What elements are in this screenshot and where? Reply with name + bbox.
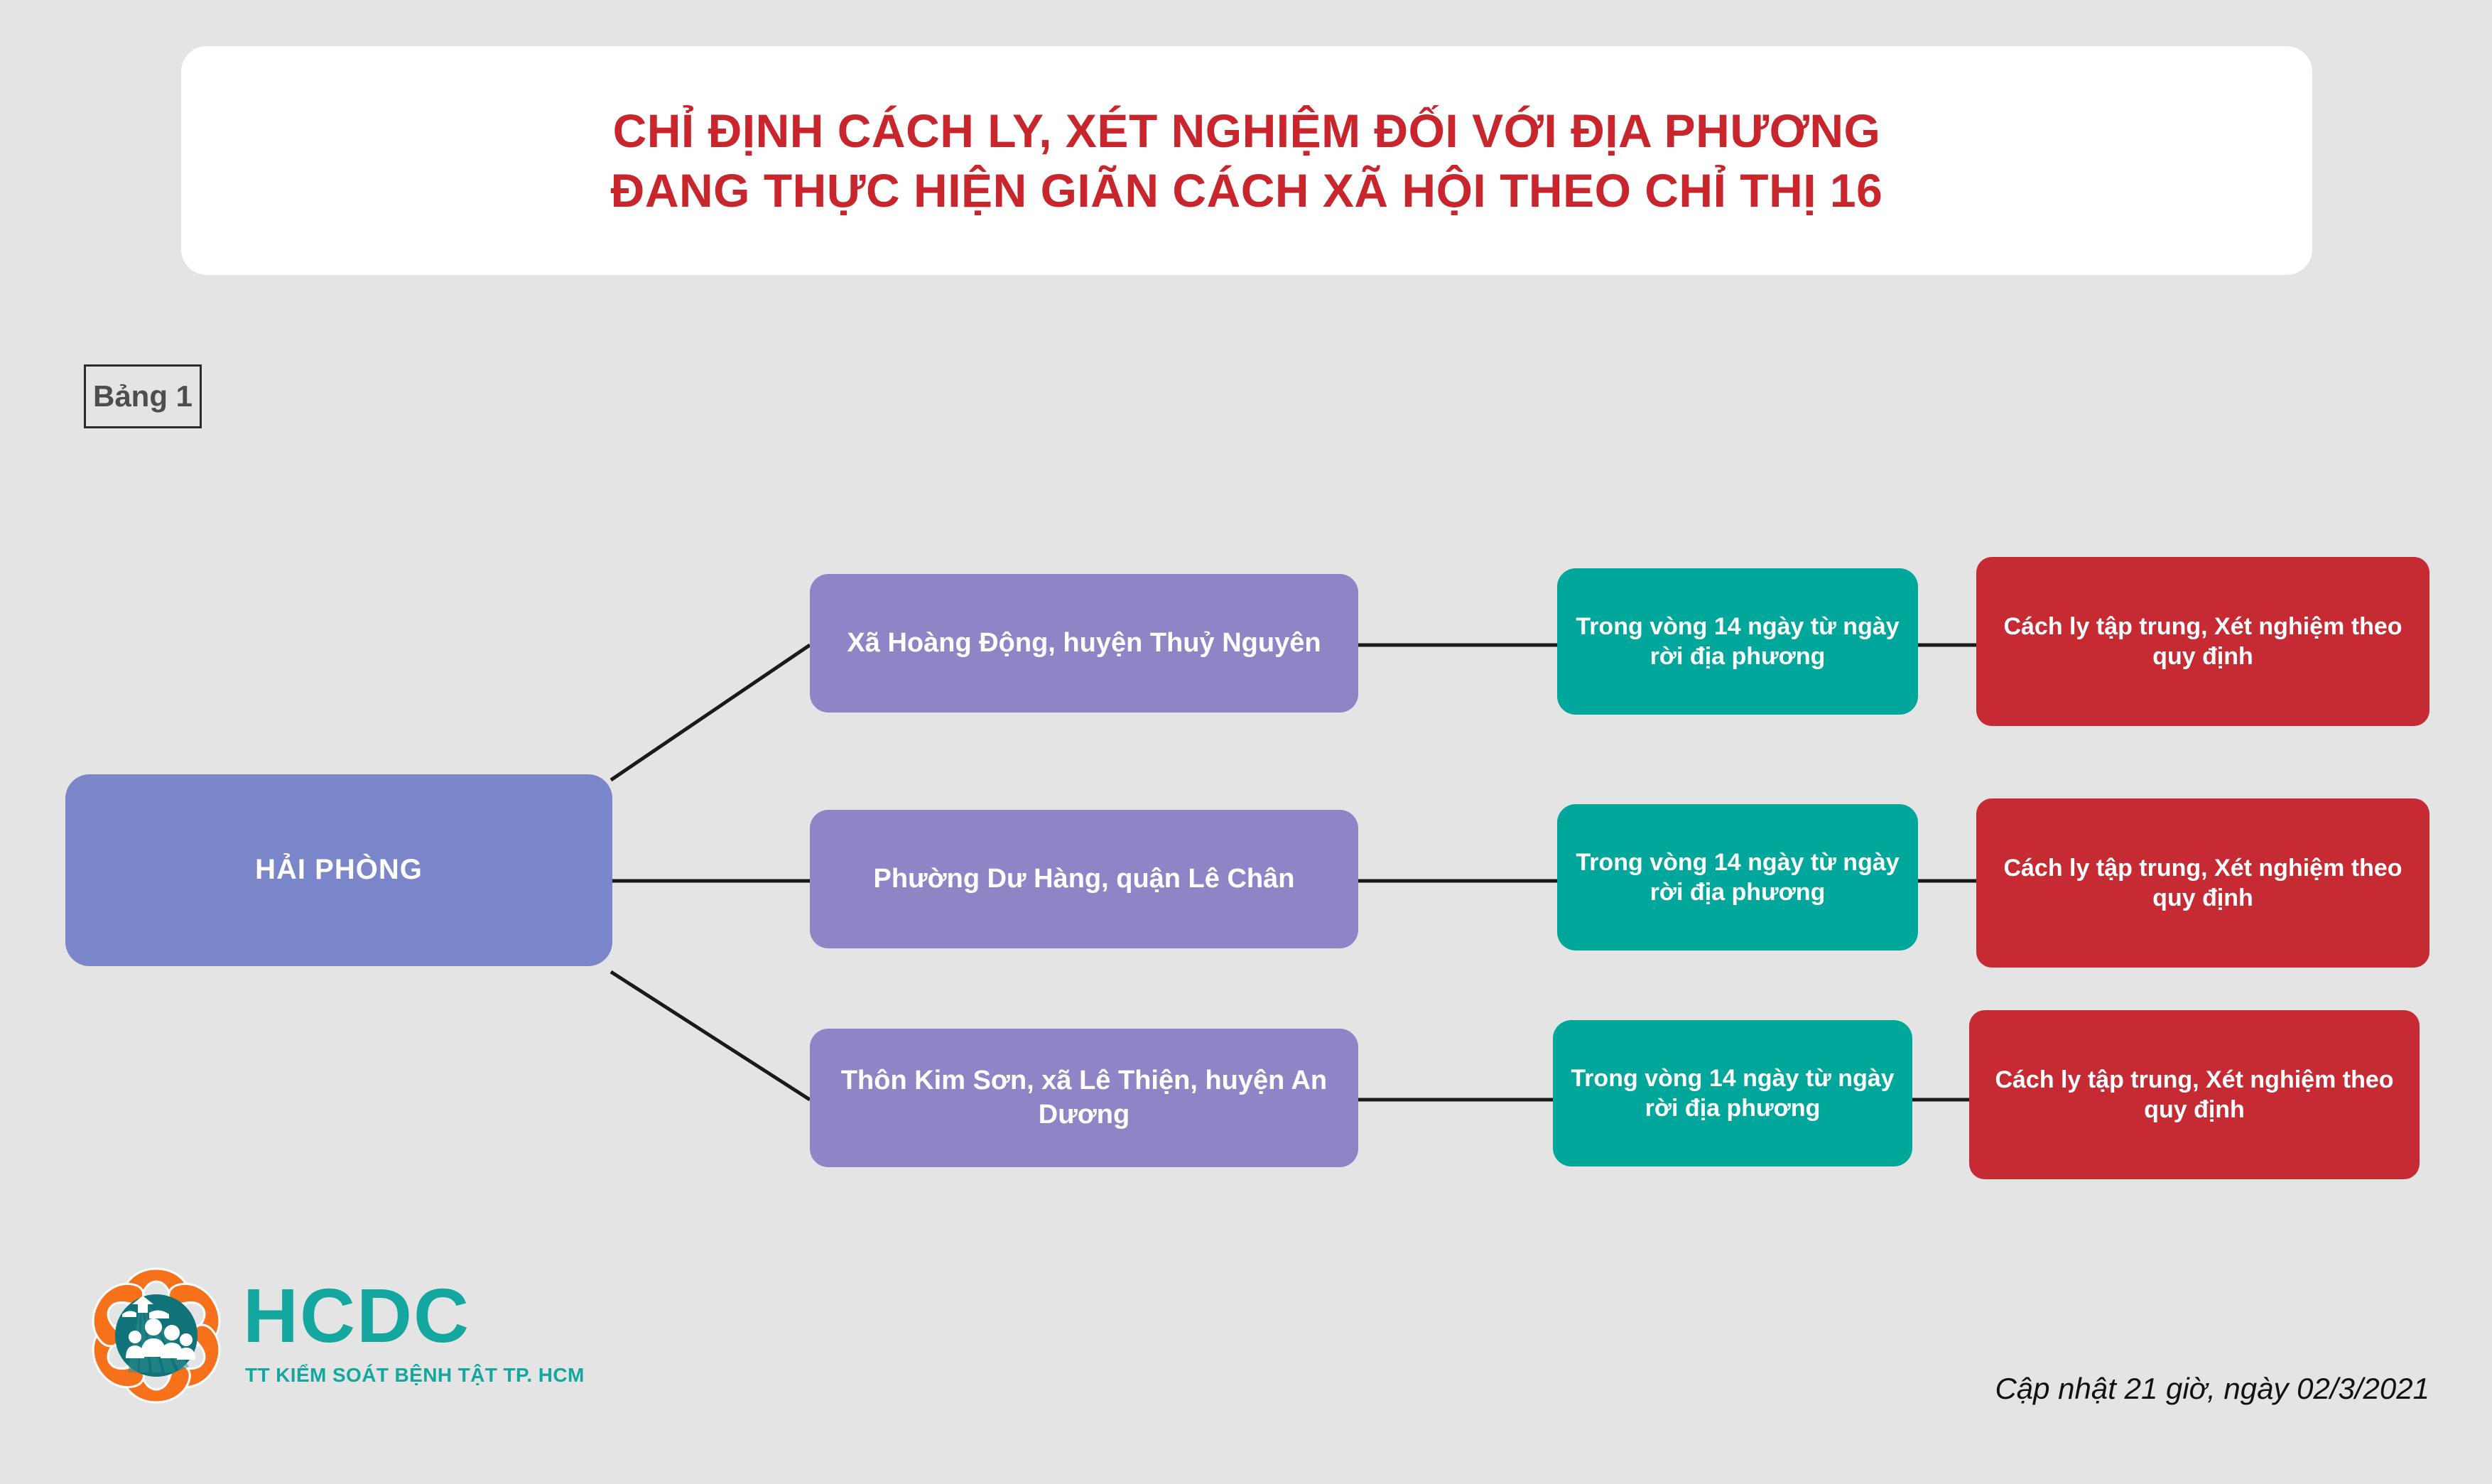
node-place-2[interactable]: Phường Dư Hàng, quận Lê Chân: [810, 810, 1358, 948]
node-place-3-label: Thôn Kim Sơn, xã Lê Thiện, huyện An Dươn…: [820, 1064, 1348, 1131]
node-duration-2[interactable]: Trong vòng 14 ngày từ ngày rời địa phươn…: [1557, 804, 1918, 950]
node-action-1-label: Cách ly tập trung, Xét nghiệm theo quy đ…: [1986, 612, 2420, 671]
node-action-3-label: Cách ly tập trung, Xét nghiệm theo quy đ…: [1979, 1065, 2410, 1125]
node-place-1-label: Xã Hoàng Động, huyện Thuỷ Nguyên: [847, 627, 1321, 660]
node-place-1[interactable]: Xã Hoàng Động, huyện Thuỷ Nguyên: [810, 574, 1358, 713]
hcdc-logo: HCDC TT KIỂM SOÁT BỆNH TẬT TP. HCM: [85, 1264, 540, 1417]
hcdc-subtitle: TT KIỂM SOÁT BỆNH TẬT TP. HCM: [245, 1364, 585, 1387]
node-duration-1[interactable]: Trong vòng 14 ngày từ ngày rời địa phươn…: [1557, 568, 1918, 715]
node-place-2-label: Phường Dư Hàng, quận Lê Chân: [874, 862, 1295, 896]
node-action-1[interactable]: Cách ly tập trung, Xét nghiệm theo quy đ…: [1976, 557, 2429, 726]
node-place-3[interactable]: Thôn Kim Sơn, xã Lê Thiện, huyện An Dươn…: [810, 1029, 1358, 1167]
node-action-2-label: Cách ly tập trung, Xét nghiệm theo quy đ…: [1986, 853, 2420, 913]
node-duration-3-label: Trong vòng 14 ngày từ ngày rời địa phươn…: [1563, 1063, 1902, 1123]
node-action-3[interactable]: Cách ly tập trung, Xét nghiệm theo quy đ…: [1969, 1010, 2420, 1179]
node-duration-2-label: Trong vòng 14 ngày từ ngày rời địa phươn…: [1567, 847, 1908, 907]
infographic-canvas: CHỈ ĐỊNH CÁCH LY, XÉT NGHIỆM ĐỐI VỚI ĐỊA…: [0, 0, 2492, 1484]
hcdc-wordmark: HCDC: [243, 1277, 470, 1354]
node-duration-3[interactable]: Trong vòng 14 ngày từ ngày rời địa phươn…: [1553, 1020, 1912, 1166]
flow-diagram: HẢI PHÒNG Xã Hoàng Động, huyện Thuỷ Nguy…: [0, 0, 2492, 1484]
hcdc-logo-icon: [85, 1264, 227, 1407]
updated-timestamp: Cập nhật 21 giờ, ngày 02/3/2021: [1995, 1372, 2429, 1406]
node-root-label: HẢI PHÒNG: [255, 852, 423, 888]
connector-lines: [0, 0, 2492, 1484]
node-duration-1-label: Trong vòng 14 ngày từ ngày rời địa phươn…: [1567, 612, 1908, 671]
node-root-haiphong[interactable]: HẢI PHÒNG: [65, 774, 612, 966]
node-action-2[interactable]: Cách ly tập trung, Xét nghiệm theo quy đ…: [1976, 798, 2429, 968]
